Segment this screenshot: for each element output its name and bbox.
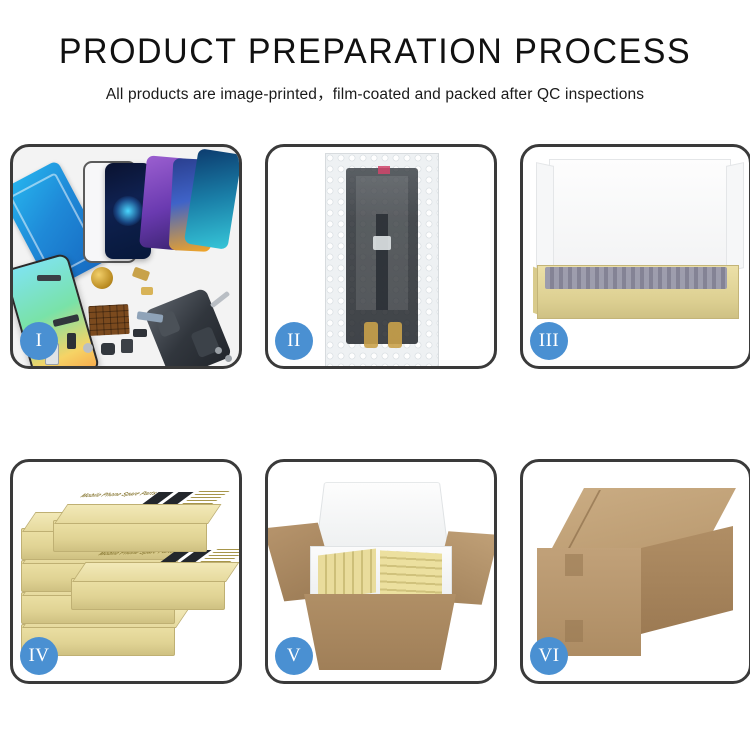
step-badge-5: V xyxy=(275,637,313,675)
chip-grid-part xyxy=(88,304,130,336)
packed-yellow-boxes xyxy=(380,550,442,597)
screw-part xyxy=(225,355,232,362)
spare-part xyxy=(121,339,133,353)
page-subtitle: All products are image-printed，film-coat… xyxy=(0,82,750,104)
packed-yellow-boxes xyxy=(318,548,376,599)
spare-part xyxy=(132,267,150,282)
spare-part xyxy=(37,275,61,281)
step-badge-6: VI xyxy=(530,637,568,675)
step-badge-2: II xyxy=(275,322,313,360)
stacked-box-front: Mobile Phone Spare Parts xyxy=(71,578,225,610)
spare-part xyxy=(133,329,147,337)
bubble-wrap-filling xyxy=(545,267,727,289)
box-lid-face: Mobile Phone Spare Parts xyxy=(72,562,239,582)
page-header: PRODUCT PREPARATION PROCESS All products… xyxy=(0,0,750,104)
flex-cable xyxy=(376,214,388,310)
box-print-label: Mobile Phone Spare Parts xyxy=(77,491,160,499)
process-step-grid: I II xyxy=(10,144,740,684)
box-lid-face: Mobile Phone Spare Parts xyxy=(54,504,221,524)
stacked-box-top: Mobile Phone Spare Parts xyxy=(53,520,207,552)
connector-part xyxy=(373,236,391,250)
process-step-2: II xyxy=(265,144,497,369)
step-badge-4: IV xyxy=(20,637,58,675)
spare-part xyxy=(101,343,115,355)
foam-lid xyxy=(315,482,448,551)
process-step-5: V xyxy=(265,459,497,684)
spare-part xyxy=(141,287,153,295)
connector-part xyxy=(364,322,378,348)
carton-tape-patch xyxy=(565,554,583,576)
spare-part xyxy=(67,333,76,349)
spare-part xyxy=(83,343,93,353)
process-step-3: III xyxy=(520,144,750,369)
spare-part xyxy=(210,291,230,308)
carton-tape-patch xyxy=(565,620,583,642)
connector-part xyxy=(388,322,402,348)
product-preparation-page: PRODUCT PREPARATION PROCESS All products… xyxy=(0,0,750,750)
bubble-wrap-bag xyxy=(325,153,439,366)
step-badge-3: III xyxy=(530,322,568,360)
pink-label xyxy=(378,166,390,174)
gold-coil-part xyxy=(91,267,113,289)
white-box-lid xyxy=(549,159,731,277)
process-step-4: Mobile Phone Spare Parts Mobile Phone Sp… xyxy=(10,459,242,684)
screw-part xyxy=(215,347,222,354)
carton-body xyxy=(304,594,456,670)
process-step-6: VI xyxy=(520,459,750,684)
step-badge-1: I xyxy=(20,322,58,360)
process-step-1: I xyxy=(10,144,242,369)
page-title: PRODUCT PREPARATION PROCESS xyxy=(11,34,739,71)
